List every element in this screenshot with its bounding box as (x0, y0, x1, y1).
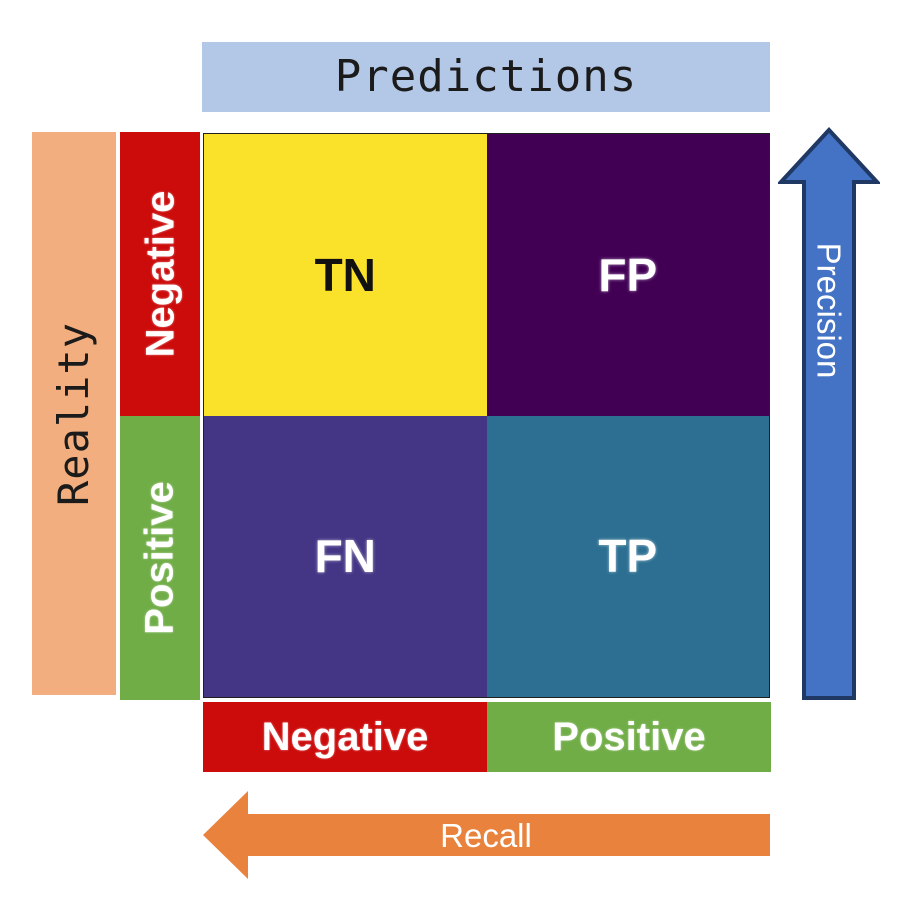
predictions-header: Predictions (202, 42, 770, 112)
arrow-up-icon (778, 126, 880, 701)
cell-true-negative-label: TN (315, 252, 376, 298)
cell-true-negative: TN (204, 134, 487, 416)
column-label-negative-text: Negative (262, 717, 429, 757)
column-label-positive: Positive (487, 702, 771, 772)
cell-false-negative-label: FN (315, 533, 376, 579)
recall-arrow: Recall (200, 789, 772, 881)
cell-false-negative: FN (204, 416, 487, 698)
cell-true-positive-label: TP (598, 533, 657, 579)
row-label-negative: Negative (120, 132, 200, 416)
cell-false-positive: FP (487, 134, 770, 416)
cell-false-positive-label: FP (598, 252, 657, 298)
row-label-positive-text: Positive (140, 481, 180, 634)
reality-axis-label: Reality (53, 321, 95, 505)
column-label-positive-text: Positive (552, 717, 705, 757)
confusion-matrix-diagram: Predictions Reality Negative Positive TN… (0, 0, 900, 905)
row-label-positive: Positive (120, 416, 200, 700)
precision-arrow: Precision (778, 126, 880, 701)
reality-axis-strip: Reality (32, 132, 116, 695)
predictions-header-label: Predictions (335, 55, 637, 99)
matrix-grid: TN FP FN TP (203, 133, 770, 698)
cell-true-positive: TP (487, 416, 770, 698)
arrow-left-icon (200, 789, 772, 881)
row-label-negative-text: Negative (140, 191, 180, 358)
column-label-negative: Negative (203, 702, 487, 772)
